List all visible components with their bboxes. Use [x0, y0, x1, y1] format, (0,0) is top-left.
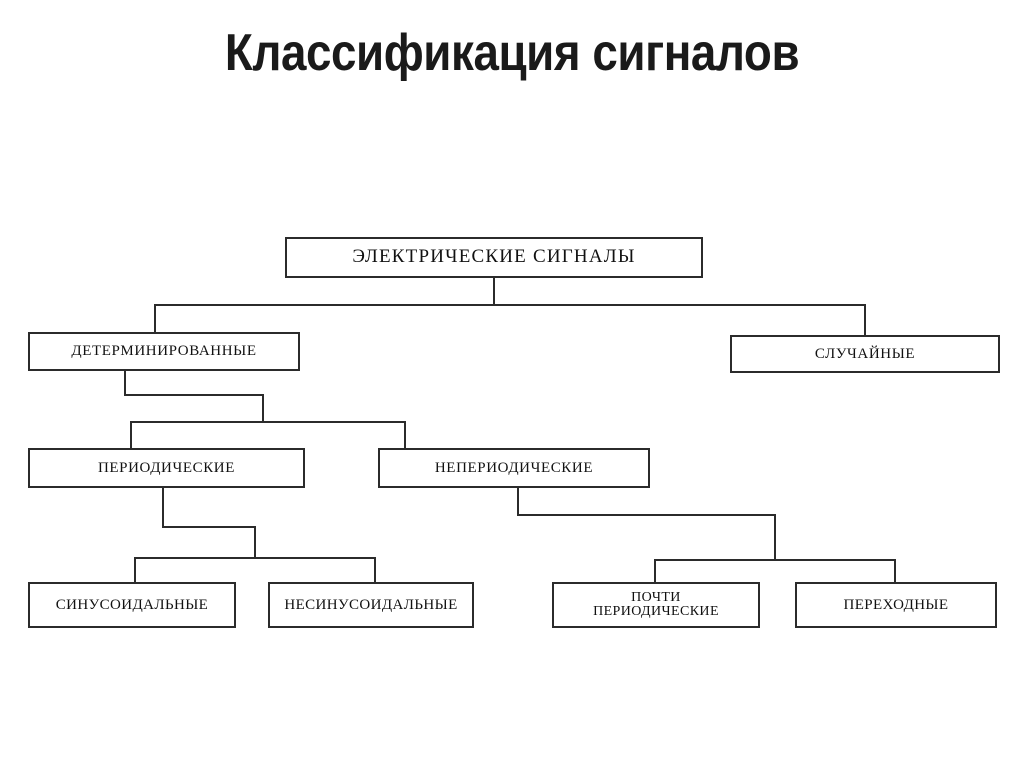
node-transient[interactable]: ПЕРЕХОДНЫЕ	[795, 582, 997, 628]
node-sinusoidal-label: СИНУСОИДАЛЬНЫЕ	[30, 597, 234, 613]
diagram-connector-lines	[0, 0, 1024, 767]
node-electrical-signals[interactable]: ЭЛЕКТРИЧЕСКИЕ СИГНАЛЫ	[285, 237, 703, 278]
node-nonsinusoidal-label: НЕСИНУСОИДАЛЬНЫЕ	[270, 597, 472, 613]
edge-periodic-step	[163, 488, 255, 558]
edge-nonperiodic-step	[518, 488, 775, 560]
node-nonsinusoidal[interactable]: НЕСИНУСОИДАЛЬНЫЕ	[268, 582, 474, 628]
signal-classification-diagram: ЭЛЕКТРИЧЕСКИЕ СИГНАЛЫ ДЕТЕРМИНИРОВАННЫЕ …	[0, 0, 1024, 767]
node-random[interactable]: СЛУЧАЙНЫЕ	[730, 335, 1000, 373]
node-sinusoidal[interactable]: СИНУСОИДАЛЬНЫЕ	[28, 582, 236, 628]
node-electrical-signals-label: ЭЛЕКТРИЧЕСКИЕ СИГНАЛЫ	[287, 247, 701, 268]
node-periodic-label: ПЕРИОДИЧЕСКИЕ	[30, 460, 303, 476]
edge-deterministic-step	[125, 371, 263, 422]
node-periodic[interactable]: ПЕРИОДИЧЕСКИЕ	[28, 448, 305, 488]
node-almost-periodic[interactable]: ПОЧТИ ПЕРИОДИЧЕСКИЕ	[552, 582, 760, 628]
node-nonperiodic-label: НЕПЕРИОДИЧЕСКИЕ	[380, 460, 648, 476]
node-transient-label: ПЕРЕХОДНЫЕ	[797, 597, 995, 613]
node-nonperiodic[interactable]: НЕПЕРИОДИЧЕСКИЕ	[378, 448, 650, 488]
node-deterministic-label: ДЕТЕРМИНИРОВАННЫЕ	[30, 343, 298, 359]
node-almost-periodic-label: ПОЧТИ ПЕРИОДИЧЕСКИЕ	[554, 591, 758, 619]
node-random-label: СЛУЧАЙНЫЕ	[732, 346, 998, 362]
node-deterministic[interactable]: ДЕТЕРМИНИРОВАННЫЕ	[28, 332, 300, 371]
